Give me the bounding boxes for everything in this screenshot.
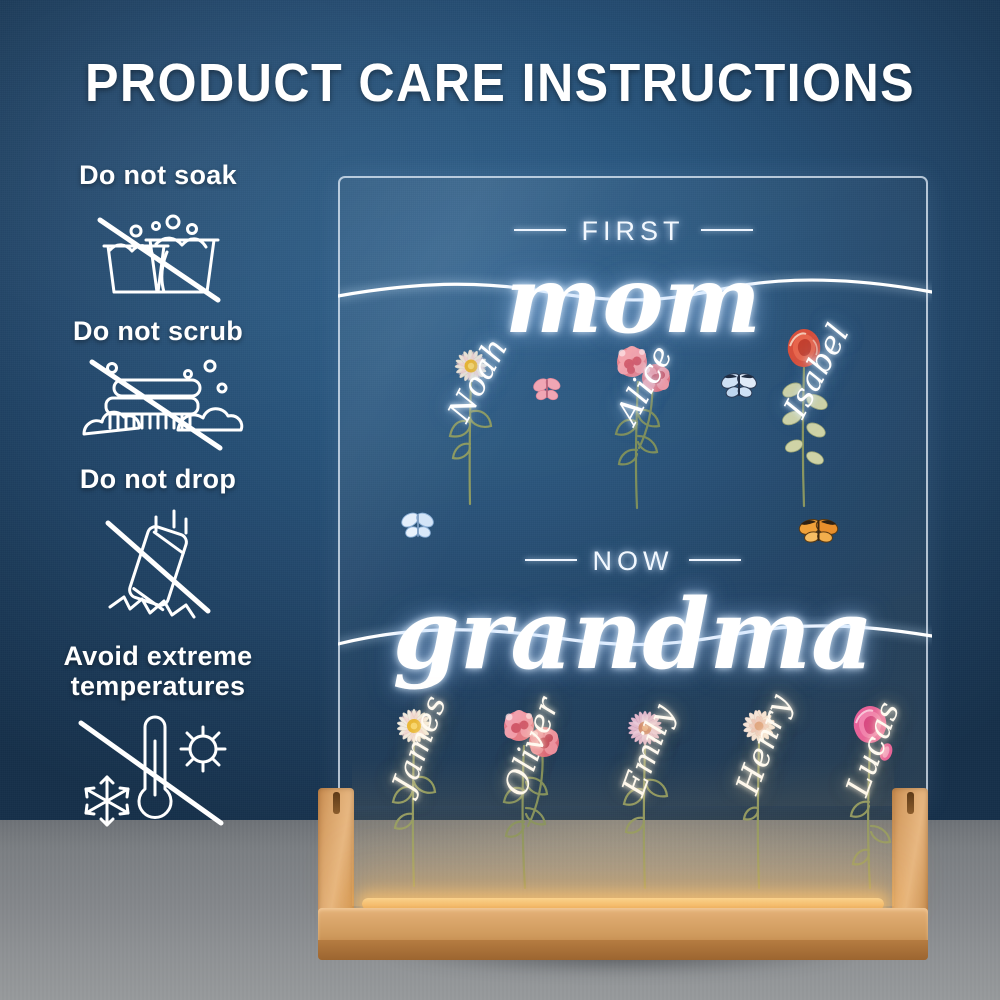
base-bottom-bar (318, 908, 928, 960)
care-item-do-not-drop: Do not drop (22, 464, 294, 632)
blue-butterfly (718, 370, 760, 409)
care-label-do-not-soak: Do not soak (22, 160, 294, 190)
pale-blue-butterfly (398, 508, 438, 549)
care-instruction-list: Do not soak Do (22, 160, 294, 839)
care-label-avoid-extreme-temperatures: Avoid extreme temperatures (22, 641, 294, 701)
care-label-line-2: temperatures (22, 671, 294, 701)
base-front-face (318, 940, 928, 960)
base-slot-left (333, 792, 340, 814)
page-title: PRODUCT CARE INSTRUCTIONS (35, 52, 965, 114)
no-extreme-temperature-icon (63, 707, 253, 831)
care-item-do-not-scrub: Do not scrub (22, 316, 294, 456)
eyebrow-rule-right-2 (689, 559, 741, 561)
eyebrow-rule-left-2 (525, 559, 577, 561)
no-scrub-icon (70, 352, 246, 456)
no-drop-icon (82, 501, 234, 633)
product-care-instruction-scene: PRODUCT CARE INSTRUCTIONS Do not soak (0, 0, 1000, 1000)
eyebrow-text-first: FIRST (582, 216, 685, 246)
wooden-led-base (318, 788, 928, 960)
eyebrow-rule-left (514, 229, 566, 231)
no-soak-icon (78, 196, 238, 308)
pink-butterfly (530, 374, 564, 411)
eyebrow-text-now: NOW (593, 546, 674, 576)
care-label-do-not-drop: Do not drop (22, 464, 294, 494)
plaque-script-grandma: grandma (340, 578, 926, 691)
acrylic-plaque: FIRST mom NOW grandma (338, 176, 928, 806)
care-item-do-not-soak: Do not soak (22, 160, 294, 308)
care-item-avoid-extreme-temperatures: Avoid extreme temperatures (22, 641, 294, 831)
orange-monarch-butterfly (796, 514, 842, 553)
care-label-do-not-scrub: Do not scrub (22, 316, 294, 346)
plaque-eyebrow-first: FIRST (340, 216, 926, 247)
base-slot-right (907, 792, 914, 814)
eyebrow-rule-right (701, 229, 753, 231)
care-label-line-1: Avoid extreme (22, 641, 294, 671)
